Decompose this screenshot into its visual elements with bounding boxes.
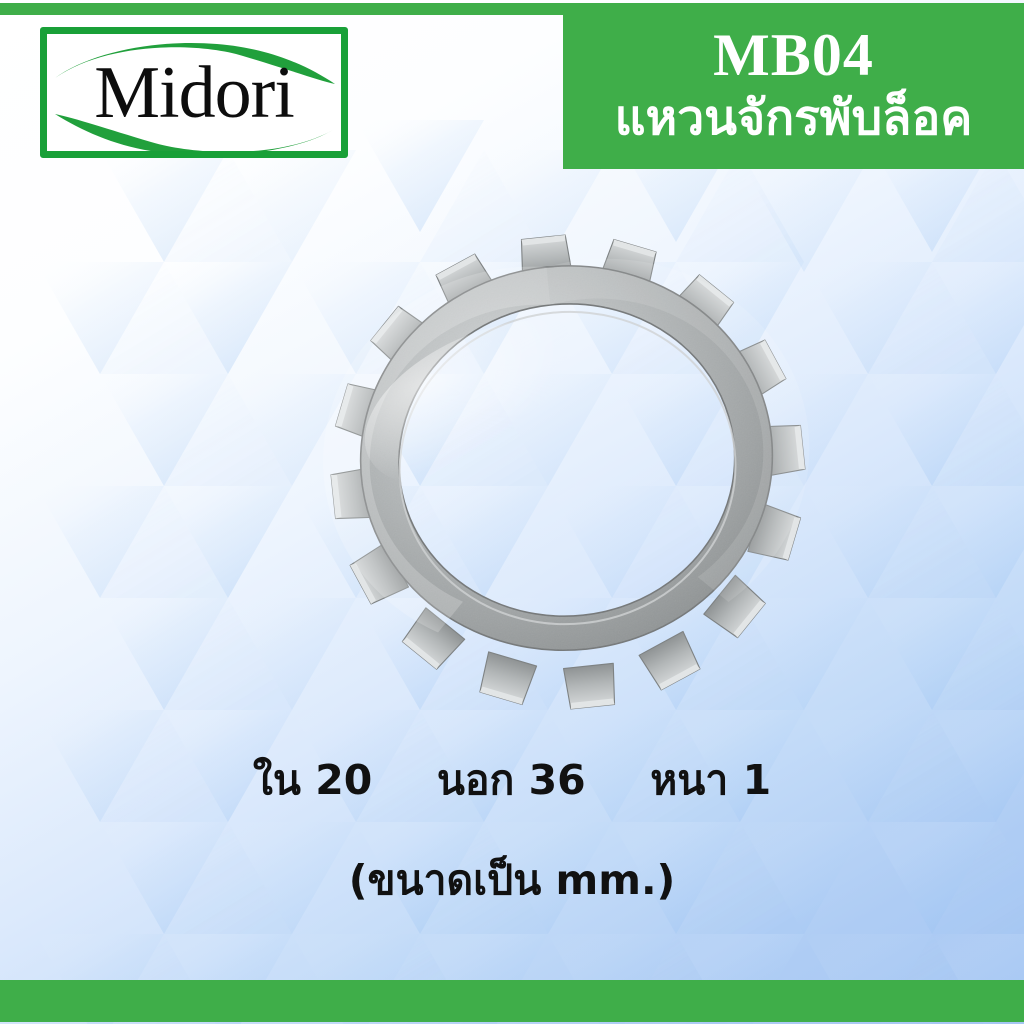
product-image-canvas: Midori MB04 แหวนจักรพับล็อค bbox=[0, 0, 1024, 1024]
brand-logo: Midori bbox=[40, 27, 348, 158]
product-header-banner: MB04 แหวนจักรพับล็อค bbox=[563, 3, 1024, 169]
outer-value: 36 bbox=[529, 756, 586, 804]
logo-wordmark: Midori bbox=[47, 34, 341, 151]
product-name-thai: แหวนจักรพับล็อค bbox=[563, 89, 1024, 147]
unit-note: (ขนาดเป็น mm.) bbox=[0, 852, 1024, 908]
inner-label: ใน bbox=[253, 756, 301, 804]
outer-label: นอก bbox=[437, 756, 514, 804]
inner-value: 20 bbox=[315, 756, 372, 804]
product-photo-lock-washer bbox=[300, 230, 840, 720]
thickness-value: 1 bbox=[743, 756, 772, 804]
thickness-label: หนา bbox=[650, 756, 728, 804]
bottom-green-bar bbox=[0, 980, 1024, 1022]
dimension-line: ใน 20 นอก 36 หนา 1 bbox=[0, 752, 1024, 808]
spec-text-block: ใน 20 นอก 36 หนา 1 (ขนาดเป็น mm.) bbox=[0, 752, 1024, 908]
product-code: MB04 bbox=[563, 3, 1024, 89]
